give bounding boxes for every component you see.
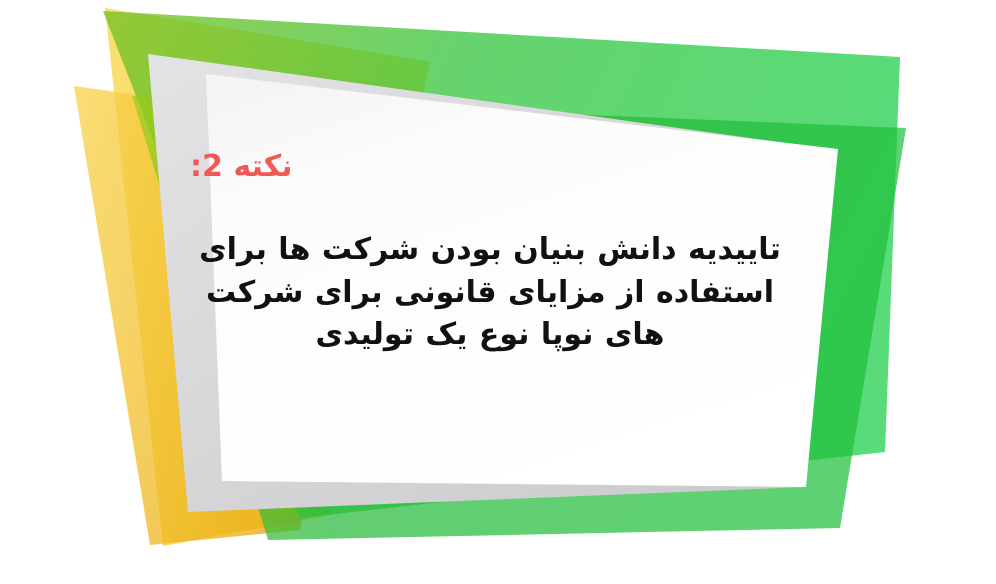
slide-canvas: نکته 2: تاییدیه دانش بنیان بودن شرکت ها … <box>0 0 996 584</box>
card-body-text: تاییدیه دانش بنیان بودن شرکت ها برای است… <box>190 229 790 357</box>
card-content: نکته 2: تاییدیه دانش بنیان بودن شرکت ها … <box>190 150 810 410</box>
card-heading: نکته 2: <box>190 150 292 183</box>
